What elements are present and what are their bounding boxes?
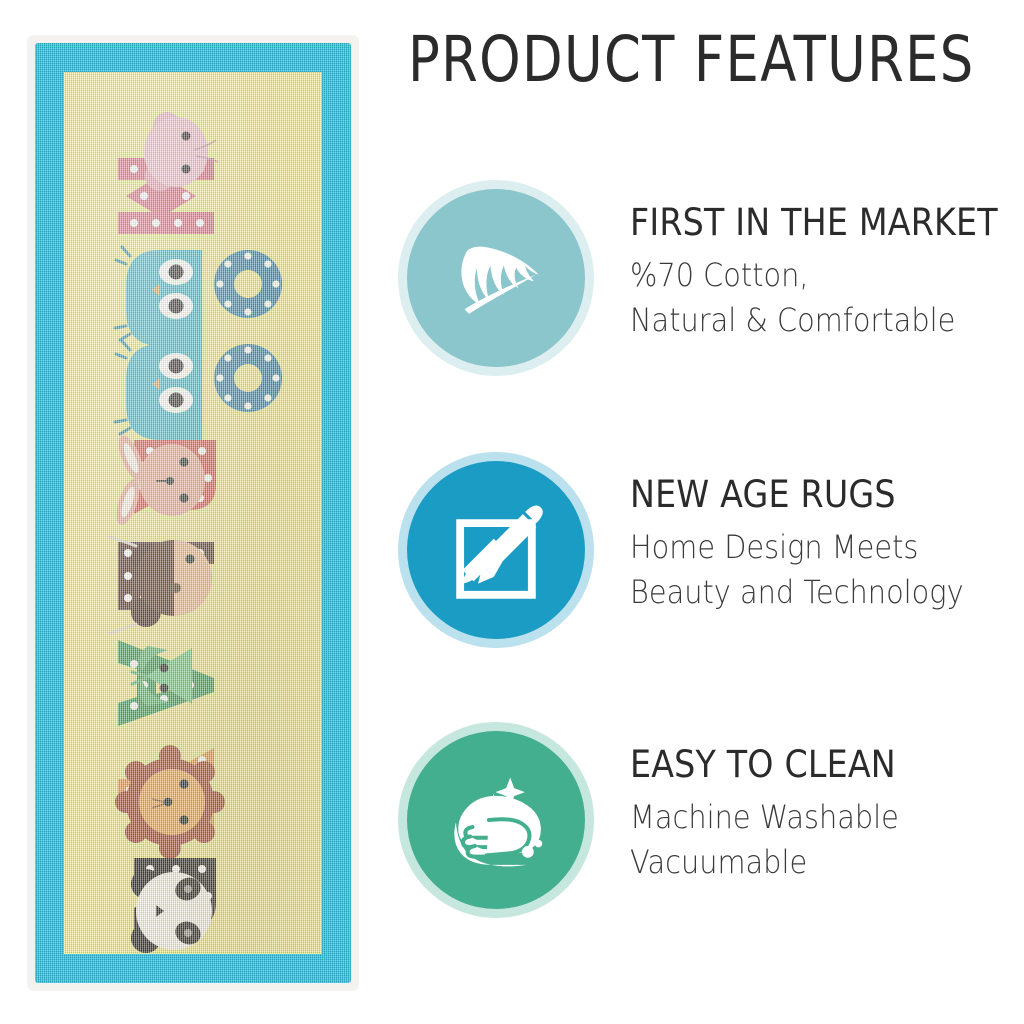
hand-wiping-cloth-icon xyxy=(437,761,555,879)
feature-item-first-in-the-market: FIRST IN THE MARKET %70 Cotton, Natural … xyxy=(398,180,1018,390)
features-panel: PRODUCT FEATURES FIRST IN THE MARKET %70… xyxy=(380,0,1024,1024)
feature-title: FIRST IN THE MARKET xyxy=(630,204,998,243)
feature-item-new-age-rugs: NEW AGE RUGS Home Design Meets Beauty an… xyxy=(398,452,1018,662)
motif-mouse-M xyxy=(118,112,218,234)
feature-icon-badge xyxy=(398,452,594,648)
feature-description-line: Beauty and Technology xyxy=(630,570,979,615)
motif-lion-Y xyxy=(115,745,225,859)
feature-icon-badge xyxy=(398,180,594,376)
feature-text: NEW AGE RUGS Home Design Meets Beauty an… xyxy=(594,452,1018,616)
motif-panda-R xyxy=(131,858,216,953)
design-pen-brush-icon xyxy=(440,494,552,606)
feature-title: NEW AGE RUGS xyxy=(630,476,979,515)
product-image xyxy=(28,36,358,990)
feature-description: Machine Washable Vacuumable xyxy=(630,795,979,886)
motif-owl-O-1 xyxy=(115,247,282,346)
feature-description-line: Home Design Meets xyxy=(630,525,979,570)
motif-owl-O-2 xyxy=(115,341,282,440)
motif-crocodile-A xyxy=(118,640,214,726)
feature-icon-badge xyxy=(398,722,594,918)
motif-bear-L xyxy=(110,537,214,633)
feature-description: %70 Cotton, Natural & Comfortable xyxy=(630,253,998,344)
feather-icon xyxy=(440,222,552,334)
feature-description-line: Vacuumable xyxy=(630,840,979,885)
motif-rabbit-R xyxy=(112,432,216,527)
page-title: PRODUCT FEATURES xyxy=(408,28,936,92)
feature-description-line: Machine Washable xyxy=(630,795,979,840)
feature-description-line: Natural & Comfortable xyxy=(630,298,998,343)
feature-description: Home Design Meets Beauty and Technology xyxy=(630,525,979,616)
feature-description-line: %70 Cotton, xyxy=(630,253,998,298)
feature-text: EASY TO CLEAN Machine Washable Vacuumabl… xyxy=(594,722,1018,886)
rug-field xyxy=(64,72,322,954)
feature-text: FIRST IN THE MARKET %70 Cotton, Natural … xyxy=(594,180,1024,344)
feature-item-easy-to-clean: EASY TO CLEAN Machine Washable Vacuumabl… xyxy=(398,722,1018,932)
rug-letter-motifs xyxy=(64,72,322,954)
feature-title: EASY TO CLEAN xyxy=(630,746,979,785)
